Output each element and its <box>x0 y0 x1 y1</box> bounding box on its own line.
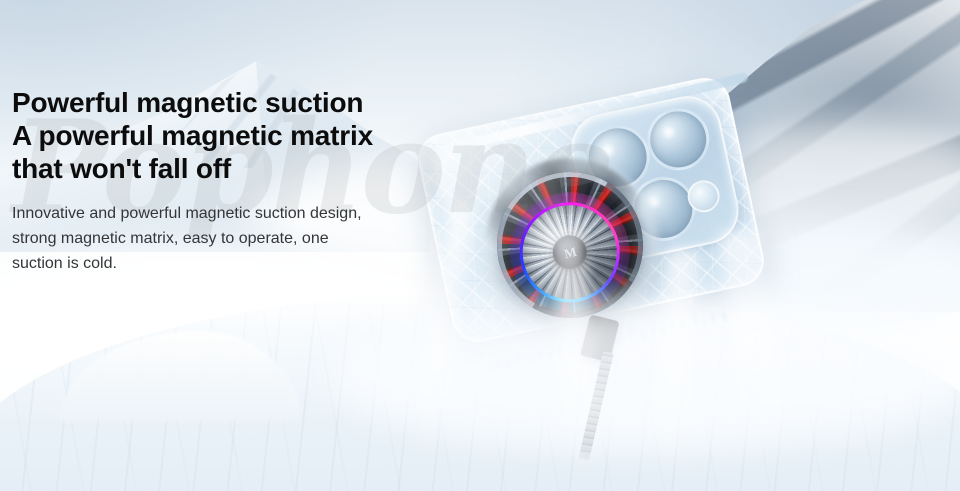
icicle <box>556 340 564 359</box>
headline-line-3: that won't fall off <box>12 152 464 185</box>
copy-block: Powerful magnetic suction A powerful mag… <box>12 86 464 276</box>
icicle <box>668 313 676 336</box>
body-line-1: Innovative and powerful magnetic suction… <box>12 201 464 226</box>
body-copy: Innovative and powerful magnetic suction… <box>12 201 464 276</box>
icicle <box>494 354 502 372</box>
brand-logo-mark: M <box>563 245 577 260</box>
icicle <box>720 308 728 325</box>
icicle <box>527 351 534 367</box>
icicle <box>709 308 717 327</box>
icicle <box>625 316 636 344</box>
body-line-2: strong magnetic matrix, easy to operate,… <box>12 226 464 251</box>
magnetic-cooler-fan: M <box>482 157 659 334</box>
icicle <box>639 327 645 342</box>
body-line-3: suction is cold. <box>12 251 464 276</box>
icicle <box>515 346 523 368</box>
icicle <box>688 299 700 331</box>
icicle <box>659 324 667 338</box>
icicle <box>618 329 625 346</box>
icicle <box>649 319 657 339</box>
product-banner: M Pophone Powerful magnetic suction A po… <box>0 0 960 491</box>
camera-lens-ultrawide <box>641 103 715 177</box>
icicle <box>679 315 687 333</box>
icicle <box>547 349 553 362</box>
headline-line-1: Powerful magnetic suction <box>12 86 464 119</box>
icicle <box>534 338 544 364</box>
headline-line-2: A powerful magnetic matrix <box>12 119 464 152</box>
page-title: Powerful magnetic suction A powerful mag… <box>12 86 464 185</box>
icicle <box>701 315 707 329</box>
icicle <box>505 358 512 371</box>
